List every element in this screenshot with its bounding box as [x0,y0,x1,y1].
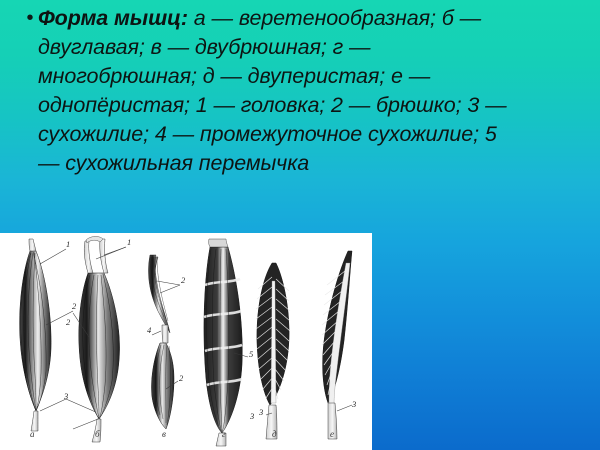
muscle-forms-illustration [0,233,372,450]
figure-caption-v: в [162,429,166,439]
callout-label-2a: 2 [72,301,76,311]
figure-caption-e: е [330,429,334,439]
callout-label-1a: 1 [66,239,70,249]
callout-label-3d: 3 [259,407,263,417]
callout-label-4c: 4 [147,325,151,335]
figure-caption-g: г [222,429,226,439]
muscle-figure-biceps [73,236,126,442]
callout-label-2c-upper: 2 [181,275,185,285]
figure-caption-a: а [30,429,35,439]
figure-caption-d: д [272,429,277,439]
bullet-paragraph: Форма мышц: а — веретенообразная; б — дв… [38,4,508,178]
bullet-dot-icon: • [22,4,38,33]
callout-label-3g: 3 [250,411,254,421]
callout-label-3a: 3 [64,391,68,401]
callout-label-2c-lower: 2 [179,373,183,383]
figure-caption-b: б [95,429,100,439]
callout-label-2b: 2 [66,317,70,327]
slide-text-block: • Форма мышц: а — веретенообразная; б — … [22,4,582,178]
muscle-figure-multibellied [204,239,248,446]
callout-label-3e: 3 [352,399,356,409]
muscle-figure-unipennate [322,251,352,439]
muscle-figure-digastric [148,255,180,429]
callout-label-5g: 5 [249,349,253,359]
figure-caption-row: а б в г д е [0,429,372,449]
bullet-body-text: а — веретенообразная; б — двуглавая; в —… [38,6,507,175]
bullet-lead-label: Форма мышц: [38,6,188,30]
callout-label-1b: 1 [127,237,131,247]
figure-image-panel: 1 2 3 1 2 2 4 2 5 3 3 3 а б в г д е [0,233,372,450]
bullet-list-item: • Форма мышц: а — веретенообразная; б — … [22,4,582,178]
